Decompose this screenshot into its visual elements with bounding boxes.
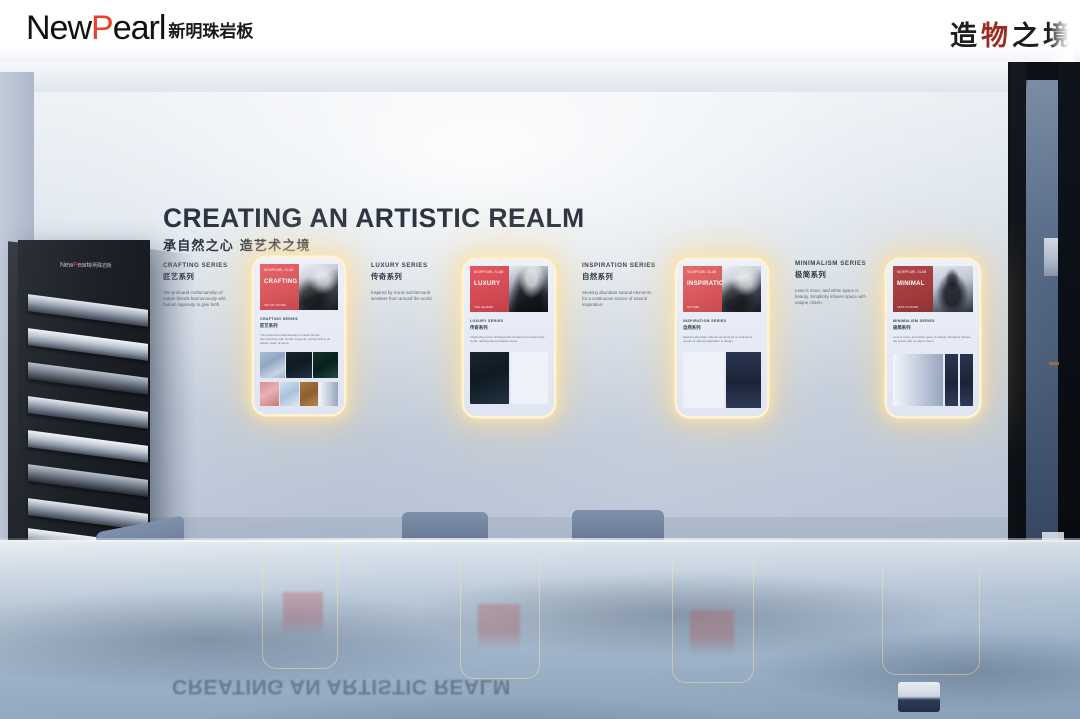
series-label-en: MINIMALISM SERIES xyxy=(795,260,867,267)
swatch-sketch-drawing xyxy=(511,352,548,404)
swatch-navy-strip-1 xyxy=(945,354,958,406)
panel-series-cn: 匠艺系列 xyxy=(260,323,338,329)
series-label-cn: 极简系列 xyxy=(795,269,867,280)
brand-earl: earl xyxy=(113,9,166,47)
panel-swatch-row-1 xyxy=(470,352,548,404)
swatch-green-stone xyxy=(313,352,338,378)
panel-series-body: Seeking abundant natural elements for a … xyxy=(683,335,761,344)
lit-panel-luxury[interactable]: NEWPEARL SLAB LUXURY THE LEGEND LUXURY S… xyxy=(464,260,554,416)
panel-series-en: MINIMALISM SERIES xyxy=(893,319,973,323)
rack-sample-slab[interactable] xyxy=(28,362,148,395)
poster-label: NEWPEARL SLAB xyxy=(897,270,926,274)
brand-p-red: P xyxy=(91,9,113,47)
brand-wordmark: NewPearl xyxy=(26,11,165,45)
panel-series-body: The profound craftsmanship of nature ble… xyxy=(260,333,338,346)
lit-panel-crafting[interactable]: NEWPEARL SLAB CRAFTING ART OF STONE CRAF… xyxy=(254,258,344,414)
poster-footer: NATURE xyxy=(687,305,699,309)
poster-label: NEWPEARL SLAB xyxy=(264,268,293,272)
swatch-sketch-drawing xyxy=(683,352,724,408)
panel-photo-luxury xyxy=(509,266,548,312)
panel-series-cn: 自然系列 xyxy=(683,325,761,331)
poster-title: MINIMAL xyxy=(897,281,925,287)
campaign-title: 造物之境 xyxy=(950,14,1074,53)
rack-brand-logo: NewPearl新明珠岩板 xyxy=(60,262,111,269)
panel-top-row: NEWPEARL SLAB INSPIRATION NATURE xyxy=(683,266,761,312)
series-label-desc: Inspired by iconic architectural wonders… xyxy=(371,290,443,302)
top-header-bar: NewPearl 新明珠岩板 造物之境 xyxy=(0,0,1080,62)
swatch-dark-slab xyxy=(726,352,761,408)
poster-footer: ART OF STONE xyxy=(264,303,286,307)
panel-photo-minimalism xyxy=(933,266,973,312)
poster-reflection-1 xyxy=(283,592,323,636)
series-label-minimalism: MINIMALISM SERIES 极简系列 Less is more, and… xyxy=(795,260,867,306)
panel-text-block: MINIMALISM SERIES 极简系列 Less is more, and… xyxy=(893,319,973,343)
panel-series-en: LUXURY SERIES xyxy=(470,319,548,323)
rack-wall-shadow xyxy=(150,249,196,555)
series-label-desc: Seeking abundant natural elements for a … xyxy=(582,290,654,309)
series-label-desc: Less is more, and white space is beauty.… xyxy=(795,288,867,307)
panel-reflection-4 xyxy=(882,568,980,675)
series-label-inspiration: INSPIRATION SERIES 自然系列 Seeking abundant… xyxy=(582,262,656,308)
series-label-en: INSPIRATION SERIES xyxy=(582,262,656,269)
campaign-char-2-highlight: 物 xyxy=(981,21,1012,52)
panel-poster-inspiration: NEWPEARL SLAB INSPIRATION NATURE xyxy=(683,266,722,312)
series-label-cn: 自然系列 xyxy=(582,271,656,282)
panel-top-row: NEWPEARL SLAB MINIMAL LESS IS MORE xyxy=(893,266,973,312)
panel-poster-crafting: NEWPEARL SLAB CRAFTING ART OF STONE xyxy=(260,264,299,310)
rack-sample-slab[interactable] xyxy=(28,430,148,463)
rack-sample-slab[interactable] xyxy=(28,328,148,361)
swatch-ice-stone xyxy=(280,382,299,406)
series-label-en: LUXURY SERIES xyxy=(371,262,443,269)
panel-series-body: Inspired by iconic architectural wonders… xyxy=(470,335,548,344)
swatch-wood-stone xyxy=(300,382,319,406)
poster-title: LUXURY xyxy=(474,281,500,287)
swatch-dark-stone xyxy=(286,352,311,378)
poster-reflection-2 xyxy=(478,604,520,650)
panel-series-en: INSPIRATION SERIES xyxy=(683,319,761,323)
panel-series-cn: 极简系列 xyxy=(893,325,973,331)
swatch-deep-teal-stone xyxy=(470,352,509,404)
table-top-object xyxy=(898,682,940,712)
header-right-fade xyxy=(1048,0,1074,62)
rack-sample-slab[interactable] xyxy=(28,294,148,327)
swatch-navy-strip-2 xyxy=(960,354,973,406)
poster-reflection-3 xyxy=(690,610,734,654)
headline-chinese: 承自然之心 造艺术之境 xyxy=(163,235,585,254)
blue-marble-slab-panel xyxy=(1026,80,1058,600)
lit-panel-minimalism[interactable]: NEWPEARL SLAB MINIMAL LESS IS MORE MINIM… xyxy=(887,260,979,416)
poster-title: INSPIRATION xyxy=(687,281,722,287)
poster-label: NEWPEARL SLAB xyxy=(474,270,503,274)
panel-swatch-row-1 xyxy=(683,352,761,408)
panel-text-block: CRAFTING SERIES 匠艺系列 The profound crafts… xyxy=(260,317,338,346)
panel-top-row: NEWPEARL SLAB CRAFTING ART OF STONE xyxy=(260,264,338,310)
poster-footer: LESS IS MORE xyxy=(897,305,918,309)
showroom-room: CREATING AN ARTISTIC REALM 承自然之心 造艺术之境 C… xyxy=(0,62,1080,719)
campaign-char-1: 造 xyxy=(950,21,981,52)
series-label-cn: 传奇系列 xyxy=(371,271,443,282)
headline-reflection: CREATING AN ARTISTIC REALM xyxy=(172,674,511,698)
panel-text-block: LUXURY SERIES 传奇系列 Inspired by iconic ar… xyxy=(470,319,548,343)
niche-light-glint xyxy=(1049,362,1059,365)
panel-photo-crafting xyxy=(299,264,338,310)
panel-poster-luxury: NEWPEARL SLAB LUXURY THE LEGEND xyxy=(470,266,509,312)
rack-sample-slab[interactable] xyxy=(28,396,148,429)
panel-series-en: CRAFTING SERIES xyxy=(260,317,338,321)
poster-label: NEWPEARL SLAB xyxy=(687,270,716,274)
brand-new: New xyxy=(26,9,91,47)
lit-panel-inspiration[interactable]: NEWPEARL SLAB INSPIRATION NATURE INSPIRA… xyxy=(677,260,767,416)
poster-title: CRAFTING xyxy=(264,279,297,285)
panel-swatch-row-1 xyxy=(893,354,973,406)
wall-headline: CREATING AN ARTISTIC REALM 承自然之心 造艺术之境 xyxy=(163,204,585,254)
brand-chinese-name: 新明珠岩板 xyxy=(168,17,253,42)
panel-swatch-row-2 xyxy=(260,382,338,406)
brand-logo: NewPearl 新明珠岩板 xyxy=(26,11,253,45)
swatch-light-gradient xyxy=(893,354,943,406)
rack-logo-earl: earl xyxy=(77,262,87,269)
panel-series-body: Less is more, and white space is beauty.… xyxy=(893,335,973,344)
rack-logo-cn: 新明珠岩板 xyxy=(88,263,112,269)
swatch-pink-stone xyxy=(260,382,279,406)
headline-english: CREATING AN ARTISTIC REALM xyxy=(163,204,585,232)
panel-series-cn: 传奇系列 xyxy=(470,325,548,331)
swatch-blue-stone xyxy=(260,352,285,378)
showroom-screenshot: CREATING AN ARTISTIC REALM 承自然之心 造艺术之境 C… xyxy=(0,0,1080,719)
table-front-edge xyxy=(0,538,1080,542)
panel-poster-minimalism: NEWPEARL SLAB MINIMAL LESS IS MORE xyxy=(893,266,933,312)
panel-text-block: INSPIRATION SERIES 自然系列 Seeking abundant… xyxy=(683,319,761,343)
panel-photo-inspiration xyxy=(722,266,761,312)
panel-top-row: NEWPEARL SLAB LUXURY THE LEGEND xyxy=(470,266,548,312)
rack-sample-slab[interactable] xyxy=(28,464,148,497)
sample-rack[interactable]: NewPearl新明珠岩板 xyxy=(18,240,150,560)
poster-footer: THE LEGEND xyxy=(474,305,493,309)
series-label-luxury: LUXURY SERIES 传奇系列 Inspired by iconic ar… xyxy=(371,262,443,302)
rack-logo-new: New xyxy=(60,262,73,269)
swatch-gradient-stone xyxy=(319,382,338,406)
panel-swatch-row-1 xyxy=(260,352,338,378)
